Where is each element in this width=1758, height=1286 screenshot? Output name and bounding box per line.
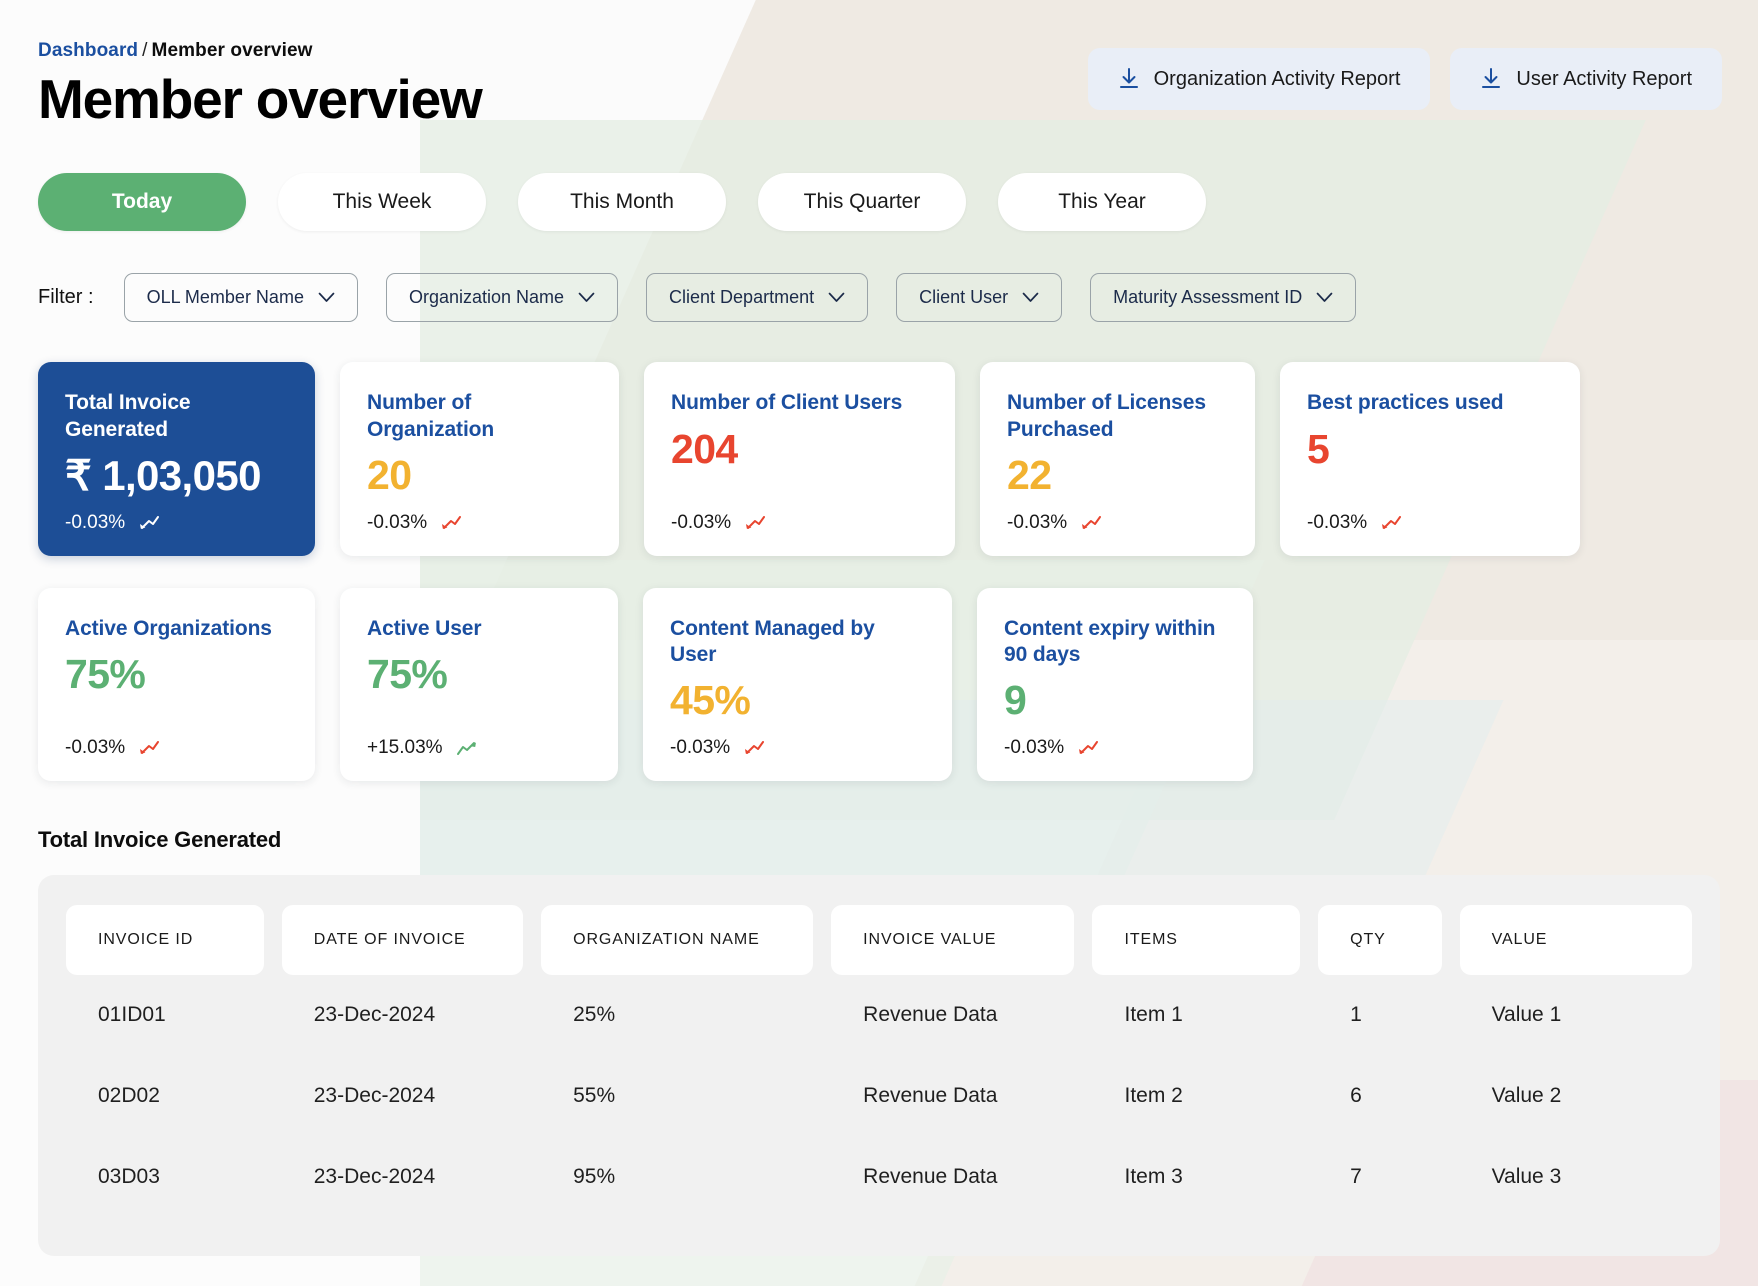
column-header-date-of-invoice[interactable]: DATE OF INVOICE [282, 905, 523, 975]
kpi-card-content-managed-by-user[interactable]: Content Managed by User 45% -0.03% [643, 588, 952, 781]
kpi-delta: -0.03% [671, 498, 928, 534]
cell-qty: 7 [1318, 1137, 1441, 1218]
column-header-value[interactable]: VALUE [1460, 905, 1692, 975]
cell-value: Value 3 [1460, 1137, 1692, 1218]
kpi-value: 9 [1004, 679, 1226, 722]
filter-label-text: Maturity Assessment ID [1113, 287, 1302, 308]
column-header-qty[interactable]: QTY [1318, 905, 1441, 975]
kpi-title: Best practices used [1307, 390, 1553, 416]
kpi-delta: -0.03% [65, 498, 288, 534]
table-row[interactable]: 02D02 23-Dec-2024 55% Revenue Data Item … [66, 1056, 1692, 1137]
kpi-delta-value: -0.03% [670, 737, 730, 759]
table-caption: Total Invoice Generated [38, 827, 1720, 853]
kpi-card-content-expiry-within-90-days[interactable]: Content expiry within 90 days 9 -0.03% [977, 588, 1253, 781]
cell-items: Item 1 [1092, 975, 1300, 1056]
breadcrumb-separator: / [142, 40, 147, 61]
kpi-card-best-practices-used[interactable]: Best practices used 5 -0.03% [1280, 362, 1580, 556]
kpi-delta: -0.03% [1007, 498, 1228, 534]
user-activity-report-label: User Activity Report [1516, 68, 1692, 91]
kpi-delta: -0.03% [670, 723, 925, 759]
filter-label-text: OLL Member Name [147, 287, 304, 308]
breadcrumb-current: Member overview [152, 40, 313, 61]
kpi-delta-value: -0.03% [367, 512, 427, 534]
tab-this-week[interactable]: This Week [278, 173, 486, 231]
filter-label-text: Client User [919, 287, 1008, 308]
download-icon [1480, 67, 1502, 91]
filter-client-department[interactable]: Client Department [646, 273, 868, 322]
cell-invoice-id: 01ID01 [66, 975, 264, 1056]
organization-activity-report-button[interactable]: Organization Activity Report [1088, 48, 1431, 110]
breadcrumb-dashboard-link[interactable]: Dashboard [38, 40, 138, 61]
cell-qty: 6 [1318, 1056, 1441, 1137]
download-icon [1118, 67, 1140, 91]
chevron-down-icon [578, 292, 595, 303]
kpi-row-1: Total Invoice Generated ₹ 1,03,050 -0.03… [38, 362, 1720, 556]
chevron-down-icon [318, 292, 335, 303]
chevron-down-icon [1316, 292, 1333, 303]
trend-down-icon [138, 740, 160, 756]
cell-value: Value 2 [1460, 1056, 1692, 1137]
organization-activity-report-label: Organization Activity Report [1154, 68, 1401, 91]
kpi-value: 45% [670, 679, 925, 722]
trend-up-icon [456, 740, 478, 756]
dashboard-page: Organization Activity Report User Activi… [0, 0, 1758, 1286]
filter-label-text: Client Department [669, 287, 814, 308]
filter-client-user[interactable]: Client User [896, 273, 1062, 322]
kpi-card-total-invoice-generated[interactable]: Total Invoice Generated ₹ 1,03,050 -0.03… [38, 362, 315, 556]
table-row[interactable]: 01ID01 23-Dec-2024 25% Revenue Data Item… [66, 975, 1692, 1056]
kpi-title: Active Organizations [65, 616, 288, 642]
table-row[interactable]: 03D03 23-Dec-2024 95% Revenue Data Item … [66, 1137, 1692, 1218]
tab-today[interactable]: Today [38, 173, 246, 231]
cell-invoice-value: Revenue Data [831, 1056, 1074, 1137]
column-header-invoice-value[interactable]: INVOICE VALUE [831, 905, 1074, 975]
kpi-delta: -0.03% [367, 498, 592, 534]
kpi-value: 22 [1007, 454, 1228, 497]
cell-items: Item 3 [1092, 1137, 1300, 1218]
user-activity-report-button[interactable]: User Activity Report [1450, 48, 1722, 110]
table-header-row: INVOICE ID DATE OF INVOICE ORGANIZATION … [66, 905, 1692, 975]
column-header-organization-name[interactable]: ORGANIZATION NAME [541, 905, 813, 975]
cell-organization-name: 55% [541, 1056, 813, 1137]
invoice-table: INVOICE ID DATE OF INVOICE ORGANIZATION … [38, 875, 1720, 1256]
kpi-delta: -0.03% [1307, 498, 1553, 534]
kpi-value: 75% [65, 653, 288, 696]
cell-date-of-invoice: 23-Dec-2024 [282, 1056, 523, 1137]
trend-down-icon [743, 740, 765, 756]
chevron-down-icon [1022, 292, 1039, 303]
filter-maturity-assessment-id[interactable]: Maturity Assessment ID [1090, 273, 1356, 322]
kpi-card-number-of-client-users[interactable]: Number of Client Users 204 -0.03% [644, 362, 955, 556]
filter-label-text: Organization Name [409, 287, 564, 308]
cell-items: Item 2 [1092, 1056, 1300, 1137]
tab-this-month[interactable]: This Month [518, 173, 726, 231]
kpi-delta-value: -0.03% [1007, 512, 1067, 534]
tab-this-quarter[interactable]: This Quarter [758, 173, 966, 231]
period-tabs: Today This Week This Month This Quarter … [38, 173, 1720, 231]
kpi-title: Total Invoice Generated [65, 390, 288, 443]
chevron-down-icon [828, 292, 845, 303]
tab-this-year[interactable]: This Year [998, 173, 1206, 231]
kpi-card-number-of-licenses-purchased[interactable]: Number of Licenses Purchased 22 -0.03% [980, 362, 1255, 556]
trend-down-icon [744, 515, 766, 531]
filter-organization-name[interactable]: Organization Name [386, 273, 618, 322]
kpi-delta-value: -0.03% [65, 512, 125, 534]
kpi-delta: -0.03% [1004, 723, 1226, 759]
filter-bar: Filter : OLL Member Name Organization Na… [38, 273, 1720, 322]
trend-down-icon [1077, 740, 1099, 756]
kpi-value: 20 [367, 454, 592, 497]
cell-organization-name: 95% [541, 1137, 813, 1218]
cell-date-of-invoice: 23-Dec-2024 [282, 1137, 523, 1218]
kpi-delta-value: -0.03% [671, 512, 731, 534]
column-header-items[interactable]: ITEMS [1092, 905, 1300, 975]
kpi-value: ₹ 1,03,050 [65, 454, 288, 498]
filter-label: Filter : [38, 286, 94, 309]
kpi-delta-value: +15.03% [367, 737, 443, 759]
kpi-value: 75% [367, 653, 591, 696]
kpi-title: Number of Licenses Purchased [1007, 390, 1228, 443]
kpi-title: Number of Organization [367, 390, 592, 443]
cell-organization-name: 25% [541, 975, 813, 1056]
kpi-card-active-user[interactable]: Active User 75% +15.03% [340, 588, 618, 781]
cell-qty: 1 [1318, 975, 1441, 1056]
trend-down-icon [1380, 515, 1402, 531]
kpi-card-active-organizations[interactable]: Active Organizations 75% -0.03% [38, 588, 315, 781]
kpi-value: 5 [1307, 428, 1553, 471]
kpi-delta-value: -0.03% [1307, 512, 1367, 534]
trend-down-icon [1080, 515, 1102, 531]
cell-value: Value 1 [1460, 975, 1692, 1056]
kpi-title: Active User [367, 616, 591, 642]
cell-invoice-value: Revenue Data [831, 1137, 1074, 1218]
kpi-title: Number of Client Users [671, 390, 928, 416]
kpi-title: Content expiry within 90 days [1004, 616, 1226, 669]
column-header-invoice-id[interactable]: INVOICE ID [66, 905, 264, 975]
kpi-delta: -0.03% [65, 723, 288, 759]
report-buttons: Organization Activity Report User Activi… [1088, 48, 1722, 110]
kpi-card-number-of-organization[interactable]: Number of Organization 20 -0.03% [340, 362, 619, 556]
cell-invoice-id: 02D02 [66, 1056, 264, 1137]
cell-invoice-value: Revenue Data [831, 975, 1074, 1056]
trend-down-icon [440, 515, 462, 531]
kpi-value: 204 [671, 428, 928, 471]
trend-down-icon [138, 515, 160, 531]
kpi-delta-value: -0.03% [65, 737, 125, 759]
filter-oll-member-name[interactable]: OLL Member Name [124, 273, 358, 322]
kpi-delta: +15.03% [367, 723, 591, 759]
cell-date-of-invoice: 23-Dec-2024 [282, 975, 523, 1056]
kpi-row-2: Active Organizations 75% -0.03% Active U… [38, 588, 1720, 781]
cell-invoice-id: 03D03 [66, 1137, 264, 1218]
kpi-delta-value: -0.03% [1004, 737, 1064, 759]
kpi-title: Content Managed by User [670, 616, 925, 669]
